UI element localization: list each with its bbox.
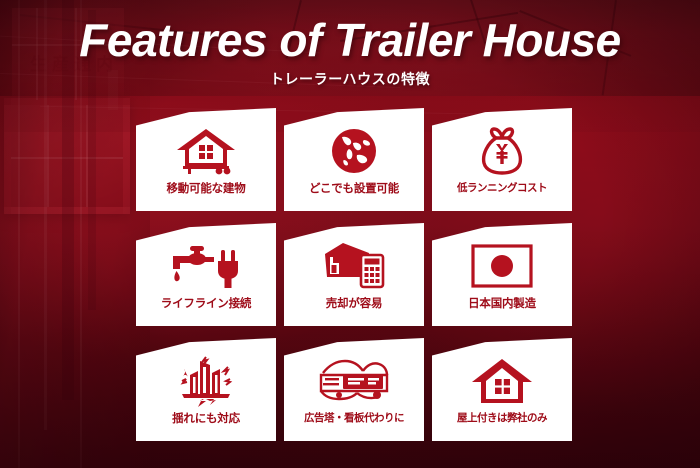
page-subtitle: トレーラーハウスの特徴 [0,69,700,89]
feature-label: どこでも設置可能 [309,180,399,196]
feature-label: 日本国内製造 [468,295,536,311]
money-bag-yen-icon [478,124,526,178]
feature-label: ライフライン接続 [161,295,251,311]
feature-grid: 移動可能な建物 どこでも設置可能 [136,108,572,441]
feature-card-low-running-cost[interactable]: 低ランニングコスト [432,108,572,211]
feature-label: 広告塔・看板代わりに [304,410,404,425]
globe-icon [330,124,378,178]
house-with-rooftop-icon [471,354,533,408]
feature-card-movable-building[interactable]: 移動可能な建物 [136,108,276,211]
japan-flag-icon [471,239,533,293]
feature-card-easy-to-sell[interactable]: 売却が容易 [284,223,424,326]
faucet-and-plug-icon [171,239,241,293]
feature-card-advertising-signboard[interactable]: 広告塔・看板代わりに [284,338,424,441]
feature-label: 低ランニングコスト [457,180,547,195]
header: Features of Trailer House トレーラーハウスの特徴 [0,0,700,100]
earthquake-buildings-icon [176,354,236,408]
feature-label: 屋上付きは弊社のみ [457,410,547,425]
billboard-trailer-icon [315,354,393,408]
feature-label: 売却が容易 [326,295,383,311]
feature-label: 移動可能な建物 [166,180,245,196]
feature-card-lifeline-connection[interactable]: ライフライン接続 [136,223,276,326]
page-title: Features of Trailer House [0,16,700,64]
house-and-calculator-icon [321,239,387,293]
feature-card-earthquake-resistant[interactable]: 揺れにも対応 [136,338,276,441]
house-with-wheels-icon [175,124,237,178]
feature-card-made-in-japan[interactable]: 日本国内製造 [432,223,572,326]
feature-card-rooftop-exclusive[interactable]: 屋上付きは弊社のみ [432,338,572,441]
feature-card-install-anywhere[interactable]: どこでも設置可能 [284,108,424,211]
feature-label: 揺れにも対応 [172,410,240,426]
